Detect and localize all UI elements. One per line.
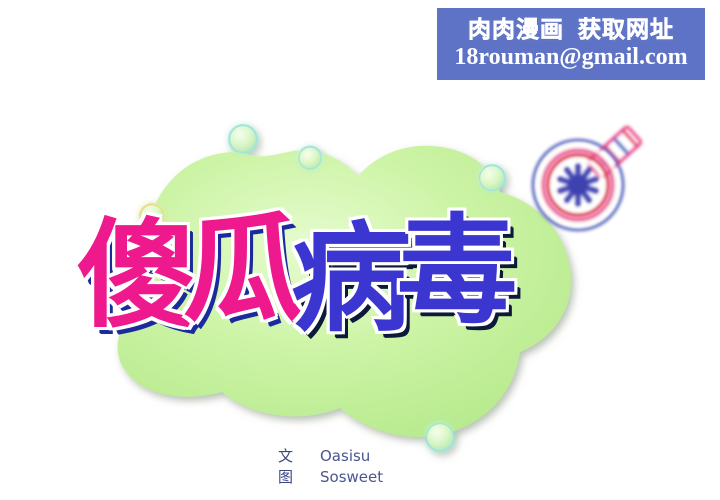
credit-key-writer: 文 [278, 446, 320, 467]
watermark-banner: 肉肉漫画获取网址 18rouman@gmail.com [437, 8, 705, 80]
credit-row-artist: 图 Sosweet [278, 467, 383, 488]
title-text-row: 傻瓜病毒 [78, 214, 512, 332]
watermark-site-name: 肉肉漫画 [468, 17, 564, 43]
cover-page: 傻瓜病毒 文 Oasisu 图 Sosweet 肉肉漫画获取网址 18rouma… [0, 0, 720, 500]
credit-value-artist: Sosweet [320, 467, 383, 488]
credit-row-writer: 文 Oasisu [278, 446, 383, 467]
watermark-line-1: 肉肉漫画获取网址 [468, 19, 674, 42]
watermark-cta: 获取网址 [578, 17, 674, 43]
watermark-email: 18rouman@gmail.com [454, 45, 687, 69]
cover-title: 傻瓜病毒 [78, 214, 648, 364]
credit-key-artist: 图 [278, 467, 320, 488]
credits-block: 文 Oasisu 图 Sosweet [278, 446, 383, 488]
title-char-1: 傻 [77, 216, 193, 334]
title-char-2: 瓜 [183, 210, 299, 328]
credit-value-writer: Oasisu [320, 446, 370, 467]
title-char-4: 毒 [397, 212, 513, 330]
title-char-3: 病 [291, 220, 407, 338]
